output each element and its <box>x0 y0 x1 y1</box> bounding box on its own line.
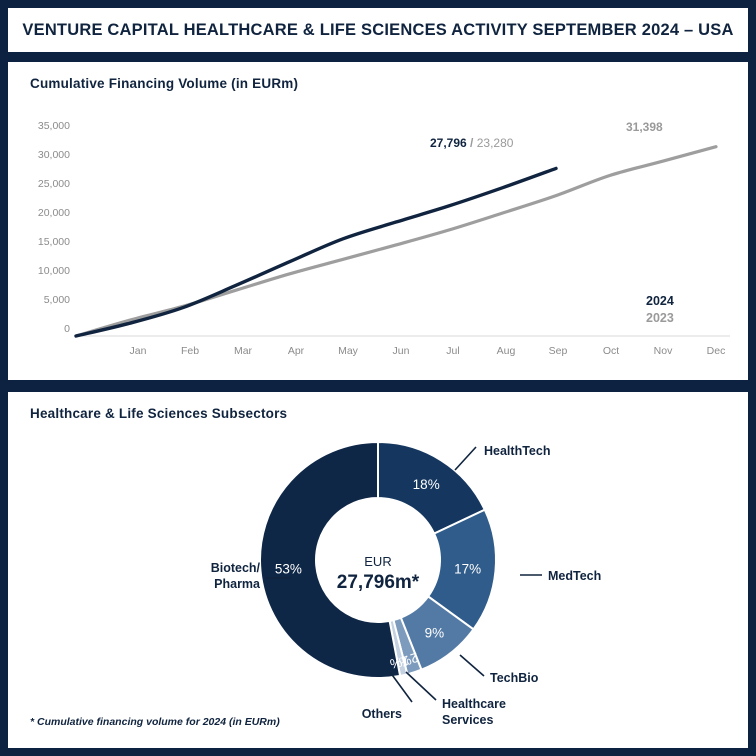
callout-line-healthcareservices <box>406 672 436 700</box>
callout-line-healthtech <box>455 447 476 470</box>
callout-label-biotech: Pharma <box>214 577 261 591</box>
x-tick-oct: Oct <box>581 345 641 357</box>
slice-percent-medtech: 17% <box>454 562 481 577</box>
legend-item-2024: 2024 <box>646 294 674 308</box>
x-tick-mar: Mar <box>213 345 273 357</box>
x-tick-jan: Jan <box>108 345 168 357</box>
callout-label-medtech: MedTech <box>548 569 601 583</box>
x-tick-apr: Apr <box>266 345 326 357</box>
x-tick-nov: Nov <box>633 345 693 357</box>
donut-chart: 18%17%9%2%1%53% HealthTechMedTechTechBio… <box>8 392 748 748</box>
x-tick-may: May <box>318 345 378 357</box>
endpoint-value-2024: 27,796 <box>430 136 467 150</box>
donut-plot-svg: 18%17%9%2%1%53% HealthTechMedTechTechBio… <box>8 392 748 748</box>
series-line-2023 <box>76 147 716 336</box>
callout-label-healthtech: HealthTech <box>484 444 550 458</box>
line-chart: 35,000 30,000 25,000 20,000 15,000 10,00… <box>8 62 748 380</box>
slide-title-bar: VENTURE CAPITAL HEALTHCARE & LIFE SCIENC… <box>8 8 748 52</box>
x-tick-sep: Sep <box>528 345 588 357</box>
x-tick-feb: Feb <box>160 345 220 357</box>
callout-label-healthcareservices: Healthcare <box>442 697 506 711</box>
endpoint-label-2023: 31,398 <box>626 120 663 134</box>
cumulative-financing-panel: Cumulative Financing Volume (in EURm) 35… <box>8 62 748 380</box>
slice-percent-techbio: 9% <box>425 626 445 641</box>
series-line-2024 <box>76 168 556 336</box>
x-tick-dec: Dec <box>686 345 746 357</box>
slice-percent-healthtech: 18% <box>413 477 440 492</box>
callout-label-healthcareservices: Services <box>442 713 493 727</box>
slide-canvas: VENTURE CAPITAL HEALTHCARE & LIFE SCIENC… <box>0 0 756 756</box>
callout-line-techbio <box>460 655 484 676</box>
x-tick-aug: Aug <box>476 345 536 357</box>
subsectors-panel: Healthcare & Life Sciences Subsectors 18… <box>8 392 748 748</box>
callout-label-others: Others <box>362 707 402 721</box>
x-tick-jul: Jul <box>423 345 483 357</box>
callout-label-techbio: TechBio <box>490 671 539 685</box>
donut-center-currency: EUR <box>364 554 391 569</box>
endpoint-value-2023-at-sep: 23,280 <box>477 136 514 150</box>
endpoint-label-2024: 27,796 / 23,280 <box>430 136 513 150</box>
page-title: VENTURE CAPITAL HEALTHCARE & LIFE SCIENC… <box>22 21 733 40</box>
legend-item-2023: 2023 <box>646 311 674 325</box>
endpoint-separator: / <box>467 136 477 150</box>
line-plot-svg <box>8 62 748 380</box>
callout-label-biotech: Biotech/ <box>211 561 261 575</box>
donut-center-value: 27,796m* <box>337 572 420 593</box>
x-tick-jun: Jun <box>371 345 431 357</box>
donut-footnote: * Cumulative financing volume for 2024 (… <box>30 716 280 728</box>
slice-percent-biotech: 53% <box>275 562 302 577</box>
